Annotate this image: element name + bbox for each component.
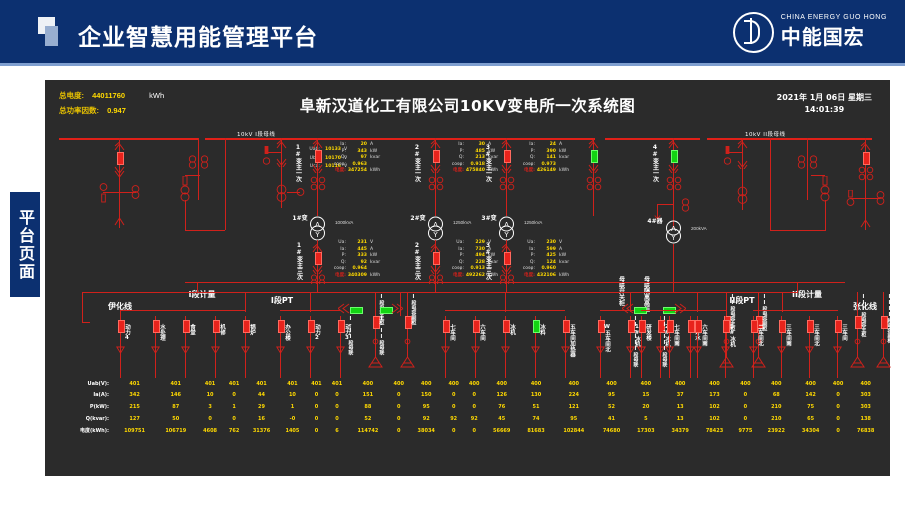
table-cell: 173 bbox=[697, 390, 731, 402]
ct-icon bbox=[499, 176, 515, 192]
table-cell: 4608 bbox=[196, 424, 223, 437]
table-cell: 74680 bbox=[594, 424, 628, 437]
table-cell: 400 bbox=[828, 378, 849, 390]
table-cell: 0 bbox=[327, 401, 348, 413]
lv-rail-a1-l bbox=[120, 310, 121, 318]
tie-arrows-icon-1 bbox=[338, 303, 350, 314]
capacitor-label: I段电容副柜 bbox=[410, 294, 415, 325]
table-row-header: P(kW): bbox=[55, 401, 114, 413]
clock-date: 2021年 1月 06日 星期三 bbox=[777, 92, 872, 104]
lv-left-riser bbox=[82, 292, 83, 322]
hv-bus-segment-1 bbox=[59, 138, 199, 140]
table-cell: 0 bbox=[732, 413, 759, 425]
energy-value: 475840 bbox=[464, 168, 485, 175]
capacitor-label: II段电容主柜 bbox=[729, 294, 734, 331]
table-cell: 400 bbox=[347, 378, 388, 390]
energy-unit: kWh bbox=[559, 168, 569, 173]
table-cell: 401 bbox=[114, 378, 155, 390]
energy-unit: kWh bbox=[370, 168, 380, 173]
arrow-down-icon bbox=[686, 346, 695, 354]
hv-cell-1-measurements: Ia:20A P:343kW Q:97kvar cosφ:0.963 电度:34… bbox=[333, 142, 380, 175]
p-unit: kW bbox=[370, 149, 377, 154]
table-cell: 17303 bbox=[629, 424, 663, 437]
table-cell: 401 bbox=[155, 378, 196, 390]
disconnector-icon bbox=[667, 164, 680, 173]
lv-rail-a2-c bbox=[310, 292, 311, 312]
capacitor-bank-icon bbox=[399, 354, 416, 368]
table-row: 电度(kWh):10975110671946087623137614050611… bbox=[55, 424, 883, 437]
tie-indicator-1[interactable] bbox=[350, 307, 363, 314]
table-cell: 400 bbox=[519, 378, 553, 390]
disconnector-icon bbox=[311, 164, 324, 173]
table-cell: 75 bbox=[793, 401, 827, 413]
ct-icon bbox=[586, 176, 602, 192]
table-cell: 121 bbox=[553, 401, 594, 413]
brand-name-cn: 中能国宏 bbox=[781, 21, 887, 50]
bus-label-section-1: 10kV I段母线 bbox=[237, 130, 275, 138]
disconnector-icon bbox=[500, 265, 513, 274]
ia-unit: A bbox=[370, 142, 373, 147]
table-cell: 400 bbox=[848, 378, 883, 390]
ua-unit: V bbox=[370, 240, 373, 245]
table-cell: 342 bbox=[114, 390, 155, 402]
header-accent-bar bbox=[0, 63, 905, 66]
table-row: P(kW):2158731291008809500765112152201310… bbox=[55, 401, 883, 413]
metering2-riser-2 bbox=[770, 138, 771, 230]
table-cell: 401 bbox=[327, 378, 348, 390]
lv-rail-b1-c bbox=[505, 292, 506, 312]
table-cell: 0 bbox=[443, 424, 464, 437]
feeder-label: 五车间加热器 bbox=[568, 324, 574, 357]
table-cell: 109751 bbox=[114, 424, 155, 437]
feeder-label: 动力2 bbox=[313, 324, 319, 341]
table-cell: 215 bbox=[114, 401, 155, 413]
table-cell: 0 bbox=[196, 413, 223, 425]
table-cell: 76838 bbox=[848, 424, 883, 437]
hv-cell-2-measurements: Ia:30A P:485kW Q:213kvar cosφ:0.918 电度:4… bbox=[451, 142, 498, 175]
disconnector-icon bbox=[859, 142, 872, 151]
table-cell: 400 bbox=[388, 378, 409, 390]
table-cell: 1405 bbox=[279, 424, 306, 437]
arrow-down-icon bbox=[441, 346, 450, 354]
arrow-down-icon bbox=[241, 346, 250, 354]
table-cell: 210 bbox=[759, 401, 793, 413]
table-cell: 23922 bbox=[759, 424, 793, 437]
table-cell: 92 bbox=[464, 413, 485, 425]
disconnector-icon bbox=[587, 140, 600, 149]
table-cell: 10 bbox=[279, 390, 306, 402]
table-cell: 0 bbox=[464, 390, 485, 402]
label-tie-2: II-III段母联 bbox=[661, 316, 666, 367]
disconnector-icon bbox=[311, 140, 324, 149]
table-cell: 127 bbox=[114, 413, 155, 425]
app-header: 企业智慧用能管理平台 CHINA ENERGY GUO HONG 中能国宏 bbox=[0, 0, 905, 63]
label-hv-cell-2: 2#变主一次 bbox=[413, 144, 419, 182]
capacitor-bank-icon bbox=[750, 354, 767, 368]
energy-value: 492262 bbox=[464, 273, 485, 280]
table-cell: 45 bbox=[485, 413, 519, 425]
ct-icon bbox=[666, 176, 682, 192]
feeder-label: 七车间 bbox=[448, 324, 454, 341]
tie-arrows-icon-2 bbox=[391, 303, 403, 314]
table-cell: 400 bbox=[663, 378, 697, 390]
tie-indicator-4[interactable] bbox=[634, 307, 647, 314]
table-cell: 37 bbox=[663, 390, 697, 402]
table-cell: 130 bbox=[519, 390, 553, 402]
transformer-icon-3: Λ Y bbox=[498, 216, 515, 241]
table-cell: 0 bbox=[327, 390, 348, 402]
switch-icon bbox=[723, 338, 730, 345]
breaker-transformer-3-lv[interactable] bbox=[504, 252, 511, 265]
table-cell: 13 bbox=[663, 401, 697, 413]
disconnector-icon bbox=[736, 140, 749, 149]
diagram-title: 阜新汉道化工有限公司10KV变电所一次系统图 bbox=[45, 94, 890, 116]
table-cell: 400 bbox=[485, 378, 519, 390]
table-cell: 65 bbox=[793, 413, 827, 425]
arrow-down-icon bbox=[116, 346, 125, 354]
table-cell: 78423 bbox=[697, 424, 731, 437]
lv-bus-tap-4 bbox=[673, 278, 674, 293]
table-cell: 303 bbox=[848, 401, 883, 413]
table-cell: 41 bbox=[594, 413, 628, 425]
feeder-label: 办公楼 bbox=[283, 324, 289, 341]
label-bus-tie-switchgear: 母联开关柜 bbox=[617, 276, 623, 306]
transformer-3-measurements: Ua:230V Ia:599A P:425kW Q:124kvar cosφ:0… bbox=[522, 240, 569, 279]
table-cell: 1 bbox=[224, 401, 245, 413]
metering-cross bbox=[185, 230, 225, 231]
table-cell: 151 bbox=[347, 390, 388, 402]
hv-cell-4-branch bbox=[657, 204, 674, 205]
brand-circle-icon bbox=[733, 12, 774, 53]
table-cell: 142 bbox=[793, 390, 827, 402]
ct-icon bbox=[858, 166, 874, 182]
label-transformer-1-kva: 1000kVA bbox=[335, 220, 353, 225]
brand-name-en: CHINA ENERGY GUO HONG bbox=[781, 14, 887, 21]
lv-bus-secondary bbox=[197, 292, 797, 293]
lv-bus-tap-2 bbox=[435, 282, 436, 293]
ct-icon bbox=[428, 176, 444, 192]
label-tie-2b: II-III段母联 bbox=[632, 316, 637, 367]
pt-secondary-icon bbox=[296, 186, 305, 200]
table-cell: 51 bbox=[519, 401, 553, 413]
transformer-4-drop bbox=[673, 244, 674, 278]
table-row-header: Uab(V): bbox=[55, 378, 114, 390]
capacitor-bank-icon bbox=[367, 354, 384, 368]
pt-icon bbox=[276, 184, 287, 204]
label-hv-cell-4: 4#变主一次 bbox=[651, 144, 657, 182]
svg-text:Λ: Λ bbox=[504, 221, 509, 229]
single-line-diagram: 总电度: 44011760 kWh 总功率因数: 0.947 阜新汉道化工有限公… bbox=[45, 80, 890, 476]
table-cell: 6 bbox=[327, 424, 348, 437]
table-cell: 0 bbox=[464, 424, 485, 437]
breaker-outgoing[interactable] bbox=[863, 152, 870, 165]
disconnector-icon bbox=[736, 160, 749, 169]
q-unit: kvar bbox=[370, 155, 380, 160]
table-cell: 0 bbox=[306, 424, 327, 437]
breaker-transformer-2-lv[interactable] bbox=[433, 252, 440, 265]
measurement-table-body: Uab(V):401401401401401401401401400400400… bbox=[55, 378, 883, 437]
ua-unit: V bbox=[559, 240, 562, 245]
metering2-cross bbox=[770, 230, 826, 231]
disconnector-icon bbox=[429, 265, 442, 274]
svg-text:Λ: Λ bbox=[433, 221, 438, 229]
pt-icon bbox=[846, 190, 855, 208]
p-unit: kW bbox=[559, 149, 566, 154]
lv-bus-tap-1 bbox=[317, 282, 318, 293]
table-cell: 0 bbox=[306, 413, 327, 425]
disconnector-icon bbox=[188, 154, 197, 172]
breaker-bus-tie[interactable] bbox=[591, 150, 598, 163]
label-transformer-2-lv: 2#变主三次 bbox=[413, 242, 419, 280]
hv-cell-3-measurements: Ia:24A P:390kW Q:141kvar cosφ:0.973 电度:4… bbox=[522, 142, 569, 175]
switch-icon bbox=[404, 338, 411, 345]
pt-icon bbox=[876, 190, 885, 208]
table-row: Ia(A):3421461004410001510150001261302249… bbox=[55, 390, 883, 402]
hv-bus-segment-2 bbox=[205, 138, 595, 140]
table-cell: 400 bbox=[443, 378, 464, 390]
ct-icon bbox=[99, 180, 108, 206]
table-cell: 400 bbox=[759, 378, 793, 390]
p-unit: kW bbox=[370, 253, 377, 258]
metering-riser-2 bbox=[225, 138, 226, 230]
disconnector-icon bbox=[113, 142, 126, 151]
table-cell: 401 bbox=[279, 378, 306, 390]
arrow-down-icon bbox=[531, 346, 540, 354]
energy-key: 电度: bbox=[451, 273, 464, 280]
ia-unit: A bbox=[559, 247, 562, 252]
table-cell: 0 bbox=[732, 390, 759, 402]
arrester-icon bbox=[859, 216, 872, 228]
disconnector-icon bbox=[200, 154, 209, 172]
table-cell: 81683 bbox=[519, 424, 553, 437]
disconnector-icon bbox=[797, 154, 806, 172]
table-cell: 102 bbox=[697, 413, 731, 425]
table-cell: 401 bbox=[224, 378, 245, 390]
table-cell: 0 bbox=[443, 401, 464, 413]
table-cell: 56669 bbox=[485, 424, 519, 437]
disconnector-icon bbox=[275, 140, 288, 149]
energy-value: 347254 bbox=[346, 168, 367, 175]
table-cell: 95 bbox=[409, 401, 443, 413]
disconnector-icon bbox=[809, 154, 818, 172]
table-cell: 9775 bbox=[732, 424, 759, 437]
sidebar-tab-platform-page[interactable]: 平台页面 bbox=[10, 192, 40, 297]
table-cell: 138 bbox=[848, 413, 883, 425]
energy-value: 432106 bbox=[535, 273, 556, 280]
label-transformer-2-kva: 1250kVA bbox=[453, 220, 471, 225]
table-cell: 31376 bbox=[244, 424, 278, 437]
table-cell: 762 bbox=[224, 424, 245, 437]
table-cell: 102844 bbox=[553, 424, 594, 437]
table-row-header: Q(kvar): bbox=[55, 413, 114, 425]
table-cell: 400 bbox=[553, 378, 594, 390]
logo-squares-icon bbox=[38, 17, 68, 47]
table-cell: 0 bbox=[306, 401, 327, 413]
breaker-hv-cell-2[interactable] bbox=[433, 150, 440, 163]
table-cell: 88 bbox=[347, 401, 388, 413]
table-cell: 106719 bbox=[155, 424, 196, 437]
label-transformer-3-kva: 1250kVA bbox=[524, 220, 542, 225]
table-cell: 15 bbox=[629, 390, 663, 402]
energy-key: 电度: bbox=[333, 168, 346, 175]
label-transformer-1: 1#变 bbox=[289, 216, 311, 223]
table-cell: 95 bbox=[594, 390, 628, 402]
feeder-label: 水处理 bbox=[158, 324, 164, 341]
table-cell: 102 bbox=[697, 401, 731, 413]
table-cell: 0 bbox=[388, 413, 409, 425]
lv-left-stub bbox=[82, 322, 90, 323]
table-cell: 0 bbox=[443, 390, 464, 402]
table-cell: 401 bbox=[244, 378, 278, 390]
lv-left-cross bbox=[82, 292, 197, 293]
table-cell: 0 bbox=[828, 390, 849, 402]
table-cell: 95 bbox=[553, 413, 594, 425]
feeder-label: 食堂 bbox=[188, 324, 194, 335]
label-transformer-3-lv: 3#变主三次 bbox=[484, 242, 490, 280]
hv-bus-segment-4 bbox=[707, 138, 872, 140]
table-cell: 87 bbox=[155, 401, 196, 413]
table-cell: 0 bbox=[828, 401, 849, 413]
disconnector-icon bbox=[113, 166, 126, 178]
table-cell: 224 bbox=[553, 390, 594, 402]
capacitor-bank-icon bbox=[718, 354, 735, 368]
metering2-down bbox=[825, 200, 826, 230]
table-cell: 146 bbox=[155, 390, 196, 402]
energy-unit: kWh bbox=[559, 273, 569, 278]
label-hv-cell-3: 3#变主一次 bbox=[484, 144, 490, 182]
svg-text:Λ: Λ bbox=[315, 221, 320, 229]
energy-value: 340309 bbox=[346, 273, 367, 280]
table-row-header: 电度(kWh): bbox=[55, 424, 114, 437]
table-row: Uab(V):401401401401401401401401400400400… bbox=[55, 378, 883, 390]
arrow-down-icon bbox=[471, 346, 480, 354]
feeder-label: 机修 bbox=[218, 324, 224, 335]
disconnector-icon bbox=[429, 140, 442, 149]
ia-unit: A bbox=[370, 247, 373, 252]
lv-bus-link-r bbox=[797, 282, 798, 293]
fuse-icon bbox=[262, 146, 271, 166]
tie-arrows-icon-4 bbox=[622, 303, 634, 314]
breaker-hv-cell-3[interactable] bbox=[504, 150, 511, 163]
table-cell: 20 bbox=[629, 401, 663, 413]
table-cell: 0 bbox=[828, 413, 849, 425]
ct-icon bbox=[310, 176, 326, 192]
table-cell: 150 bbox=[409, 390, 443, 402]
table-cell: 0 bbox=[828, 424, 849, 437]
table-cell: 400 bbox=[697, 378, 731, 390]
q-unit: kvar bbox=[559, 155, 569, 160]
arrow-down-icon bbox=[336, 346, 345, 354]
table-cell: 303 bbox=[848, 390, 883, 402]
bus-label-section-2: 10kV II段母线 bbox=[745, 130, 785, 138]
breaker-incoming-1[interactable] bbox=[117, 152, 124, 165]
feeder-label: 动力4 bbox=[123, 324, 129, 341]
table-cell: 13 bbox=[663, 413, 697, 425]
metering2-riser bbox=[807, 138, 808, 200]
table-cell: 400 bbox=[409, 378, 443, 390]
pt-icon bbox=[737, 186, 748, 206]
capacitor-label: II段电容副柜 bbox=[761, 294, 766, 331]
svg-text:Y: Y bbox=[670, 234, 676, 242]
disconnector-icon bbox=[587, 164, 600, 173]
lv-rail-a1-r bbox=[245, 292, 246, 312]
clock-time: 14:01:39 bbox=[777, 104, 872, 116]
svg-text:Y: Y bbox=[503, 231, 509, 239]
energy-unit: kWh bbox=[370, 273, 380, 278]
table-cell: 126 bbox=[485, 390, 519, 402]
table-cell: 44 bbox=[244, 390, 278, 402]
table-row: Q(kvar):127500016-0005209292924574954151… bbox=[55, 413, 883, 425]
table-cell: 400 bbox=[732, 378, 759, 390]
arrow-down-icon bbox=[306, 346, 315, 354]
transformer-1-measurements: Ua:231V Ia:445A P:333kW Q:92kvar cosφ:0.… bbox=[333, 240, 380, 279]
svg-text:Y: Y bbox=[314, 231, 320, 239]
breaker-hv-cell-1[interactable] bbox=[315, 150, 322, 163]
table-cell: 0 bbox=[224, 413, 245, 425]
tie-arrows-icon-3 bbox=[674, 303, 686, 314]
table-row-header: Ia(A): bbox=[55, 390, 114, 402]
table-cell: 3 bbox=[196, 401, 223, 413]
disconnector-icon bbox=[500, 140, 513, 149]
table-cell: 0 bbox=[732, 401, 759, 413]
table-cell: 92 bbox=[443, 413, 464, 425]
table-cell: 400 bbox=[464, 378, 485, 390]
table-cell: -0 bbox=[279, 413, 306, 425]
label-transformer-1-lv: 1#变主三次 bbox=[295, 242, 301, 280]
table-cell: 52 bbox=[594, 401, 628, 413]
arrow-down-icon bbox=[276, 346, 285, 354]
table-cell: 29 bbox=[244, 401, 278, 413]
table-cell: 74 bbox=[519, 413, 553, 425]
hv-bus-segment-3 bbox=[605, 138, 700, 140]
energy-key: 电度: bbox=[333, 273, 346, 280]
label-transformer-2: 2#变 bbox=[407, 216, 429, 223]
table-cell: 0 bbox=[306, 390, 327, 402]
lv-mid-riser bbox=[400, 292, 401, 316]
ia-unit: A bbox=[559, 142, 562, 147]
arrow-down-icon bbox=[501, 346, 510, 354]
feeder-label: 冰料 bbox=[538, 324, 544, 335]
disconnector-icon bbox=[311, 265, 324, 274]
transformer-icon-4: Λ Y bbox=[665, 220, 682, 244]
table-cell: 52 bbox=[347, 413, 388, 425]
breaker-transformer-1-lv[interactable] bbox=[315, 252, 322, 265]
table-cell: 400 bbox=[629, 378, 663, 390]
table-cell: 401 bbox=[196, 378, 223, 390]
transformer-2-measurements: Ua:229V Ia:730A P:494kW Q:228kvar cosφ:0… bbox=[451, 240, 498, 279]
feeder-label: 循环水 bbox=[693, 324, 699, 341]
clock: 2021年 1月 06日 星期三 14:01:39 bbox=[777, 92, 872, 115]
table-cell: 38034 bbox=[409, 424, 443, 437]
energy-key: 电度: bbox=[451, 168, 464, 175]
metering-riser-1 bbox=[198, 138, 199, 200]
pt-icon bbox=[131, 184, 140, 202]
fuse-icon bbox=[723, 146, 732, 166]
table-cell: 0 bbox=[388, 424, 409, 437]
energy-key: 电度: bbox=[522, 273, 535, 280]
table-cell: 0 bbox=[388, 401, 409, 413]
table-cell: 0 bbox=[327, 413, 348, 425]
disconnector-icon bbox=[681, 198, 690, 212]
disconnector-icon bbox=[429, 164, 442, 173]
label-tie-1: I-II段母联 bbox=[347, 316, 352, 355]
disconnector-icon bbox=[275, 158, 288, 167]
svg-text:Y: Y bbox=[432, 231, 438, 239]
lv-bus-link-l bbox=[197, 282, 198, 293]
feeder-label: 六车间 bbox=[478, 324, 484, 341]
breaker-hv-cell-4[interactable] bbox=[671, 150, 678, 163]
q-unit: kvar bbox=[370, 260, 380, 265]
